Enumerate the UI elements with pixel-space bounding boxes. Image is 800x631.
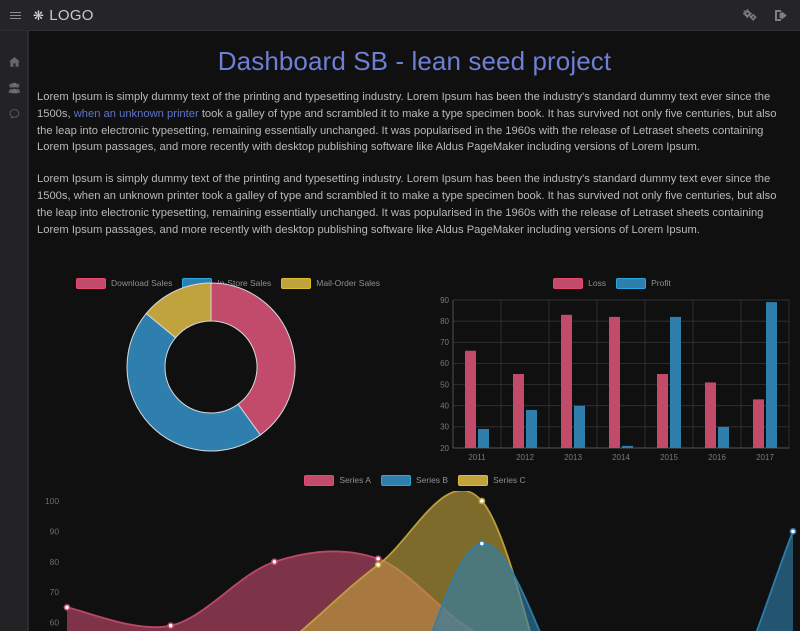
sidebar-item-home[interactable] (0, 49, 28, 75)
bar[interactable] (670, 317, 681, 448)
y-tick-label: 60 (50, 618, 60, 628)
bar-chart-legend: Loss Profit (427, 272, 797, 294)
bar[interactable] (609, 317, 620, 448)
y-tick-label: 50 (440, 380, 449, 389)
y-tick-label: 100 (45, 496, 59, 506)
data-point[interactable] (64, 605, 69, 610)
sidebar (0, 31, 28, 631)
x-tick-label: 2014 (612, 453, 630, 462)
legend-item-mail-order-sales[interactable]: Mail-Order Sales (281, 278, 380, 289)
sidebar-item-users[interactable] (0, 75, 28, 101)
main-content: Dashboard SB - lean seed project Lorem I… (28, 31, 800, 631)
y-tick-label: 70 (50, 587, 60, 597)
x-tick-label: 2011 (468, 453, 486, 462)
top-navbar-actions (742, 9, 788, 22)
dashboard-page: ❋ LOGO (0, 0, 800, 631)
x-tick-label: 2015 (660, 453, 678, 462)
logout-icon[interactable] (774, 9, 788, 22)
snowflake-icon: ❋ (33, 9, 44, 22)
hamburger-icon[interactable] (0, 12, 30, 19)
donut-slice[interactable] (127, 313, 260, 451)
bar[interactable] (574, 406, 585, 448)
data-point[interactable] (272, 559, 277, 564)
legend-label: Mail-Order Sales (316, 278, 380, 288)
area-chart-legend: Series A Series B Series C (29, 469, 800, 491)
y-tick-label: 90 (50, 526, 60, 536)
brand-logo[interactable]: ❋ LOGO (33, 7, 94, 24)
y-tick-label: 90 (440, 296, 449, 305)
gears-icon[interactable] (742, 9, 758, 22)
chart-row: Download Sales In-Store Sales Mail-Order… (29, 246, 800, 461)
legend-label: Loss (588, 278, 606, 288)
donut-chart-panel: Download Sales In-Store Sales Mail-Order… (37, 272, 419, 462)
chat-icon (8, 108, 21, 120)
legend-swatch (76, 278, 106, 289)
home-icon (8, 56, 21, 68)
y-tick-label: 70 (440, 338, 449, 347)
data-point[interactable] (168, 623, 173, 628)
x-tick-label: 2012 (516, 453, 534, 462)
legend-swatch (458, 475, 488, 486)
y-tick-label: 30 (440, 423, 449, 432)
y-tick-label: 80 (440, 317, 449, 326)
legend-label: Series B (416, 475, 448, 485)
donut-chart[interactable] (126, 282, 296, 452)
bar[interactable] (526, 410, 537, 448)
legend-label: Series A (339, 475, 371, 485)
bar[interactable] (478, 429, 489, 448)
y-tick-label: 20 (440, 444, 449, 453)
y-tick-label: 80 (50, 557, 60, 567)
data-point[interactable] (376, 562, 381, 567)
legend-item-profit[interactable]: Profit (616, 278, 671, 289)
users-icon (8, 82, 21, 94)
bar-chart[interactable]: 2030405060708090201120122013201420152016… (427, 294, 797, 474)
data-point[interactable] (479, 498, 484, 503)
area-chart-panel: Series A Series B Series C 5060708090100 (29, 469, 800, 631)
x-tick-label: 2016 (708, 453, 726, 462)
y-tick-label: 40 (440, 402, 449, 411)
legend-item-series-b[interactable]: Series B (381, 475, 448, 486)
legend-item-series-a[interactable]: Series A (304, 475, 371, 486)
data-point[interactable] (790, 529, 795, 534)
intro-paragraph-2: Lorem Ipsum is simply dummy text of the … (29, 171, 800, 238)
bar[interactable] (657, 374, 668, 448)
sidebar-item-messages[interactable] (0, 101, 28, 127)
bar[interactable] (705, 382, 716, 448)
bar[interactable] (513, 374, 524, 448)
top-navbar: ❋ LOGO (0, 0, 800, 31)
bar-chart-panel: Loss Profit 2030405060708090201120122013… (427, 272, 797, 462)
legend-item-loss[interactable]: Loss (553, 278, 606, 289)
bar[interactable] (561, 315, 572, 448)
y-tick-label: 60 (440, 359, 449, 368)
intro-paragraph-1: Lorem Ipsum is simply dummy text of the … (29, 89, 800, 156)
brand-label: LOGO (49, 7, 94, 24)
bar[interactable] (766, 302, 777, 448)
page-title: Dashboard SB - lean seed project (29, 31, 800, 77)
legend-swatch (304, 475, 334, 486)
bar[interactable] (622, 446, 633, 448)
legend-item-series-c[interactable]: Series C (458, 475, 526, 486)
legend-swatch (381, 475, 411, 486)
legend-swatch (616, 278, 646, 289)
data-point[interactable] (376, 556, 381, 561)
legend-label: Series C (493, 475, 526, 485)
x-tick-label: 2017 (756, 453, 774, 462)
bar[interactable] (718, 427, 729, 448)
area-fill (67, 490, 793, 631)
legend-label: Profit (651, 278, 671, 288)
legend-swatch (553, 278, 583, 289)
area-chart[interactable]: 5060708090100 (29, 491, 800, 631)
unknown-printer-link[interactable]: when an unknown printer (74, 108, 199, 120)
x-tick-label: 2013 (564, 453, 582, 462)
bar[interactable] (753, 399, 764, 448)
bar[interactable] (465, 351, 476, 448)
data-point[interactable] (479, 541, 484, 546)
